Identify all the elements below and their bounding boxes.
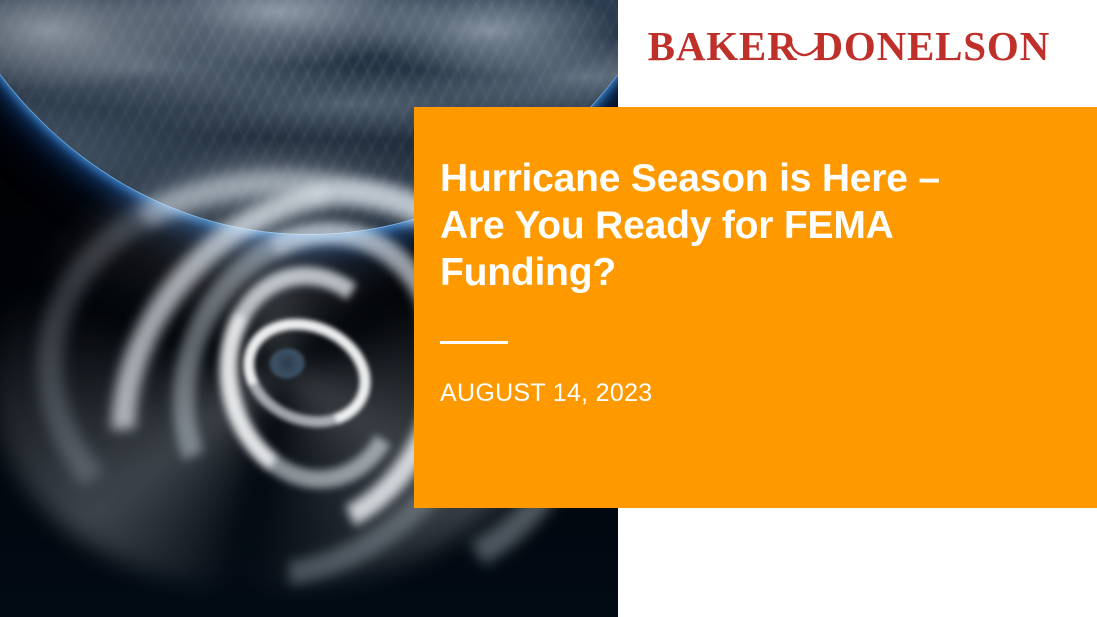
title-divider: [440, 341, 508, 344]
logo-word-baker: BAKER: [648, 23, 798, 69]
page-title-line-2: Are You Ready for FEMA: [440, 202, 1040, 249]
logo-word-donelson: DONELSON: [813, 23, 1050, 69]
title-panel: Hurricane Season is Here – Are You Ready…: [414, 107, 1097, 508]
page-title: Hurricane Season is Here – Are You Ready…: [440, 155, 1040, 296]
page-title-line-3: Funding?: [440, 249, 1040, 296]
page-title-line-1: Hurricane Season is Here –: [440, 155, 1040, 202]
baker-donelson-logo: BAKERDONELSON: [648, 26, 1050, 67]
title-slide: BAKERDONELSON Hurricane Season is Here –…: [0, 0, 1097, 617]
presentation-date: AUGUST 14, 2023: [440, 381, 652, 406]
